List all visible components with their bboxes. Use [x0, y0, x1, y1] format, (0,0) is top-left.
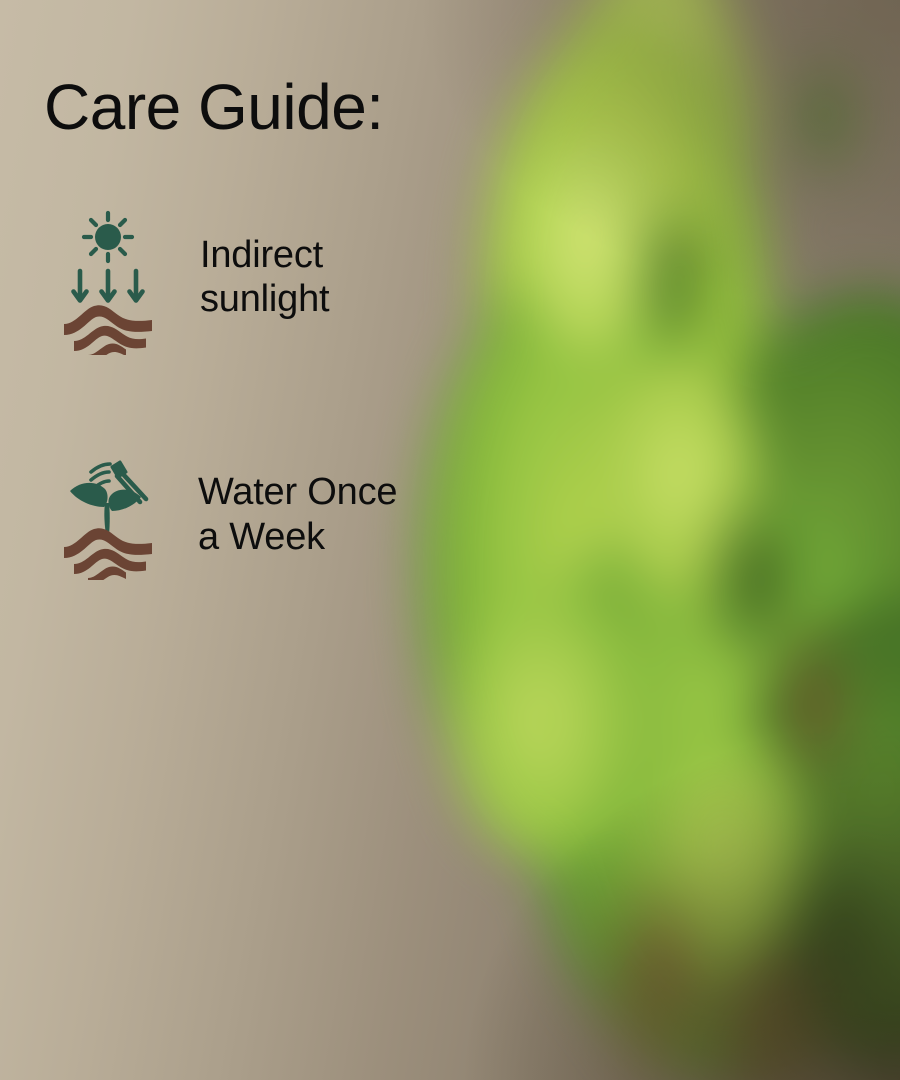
care-guide-banner: Care Guide: [0, 0, 900, 1080]
care-item-indirect-sunlight: Indirect sunlight [60, 205, 329, 355]
indirect-sunlight-icon [60, 205, 156, 355]
page-title: Care Guide: [44, 75, 384, 139]
care-item-label: Water Once a Week [198, 470, 397, 564]
care-guide-content: Care Guide: [0, 0, 900, 1080]
water-once-a-week-icon [60, 455, 156, 580]
care-item-label: Indirect sunlight [200, 233, 329, 327]
care-item-water-once-a-week: Water Once a Week [60, 455, 397, 580]
